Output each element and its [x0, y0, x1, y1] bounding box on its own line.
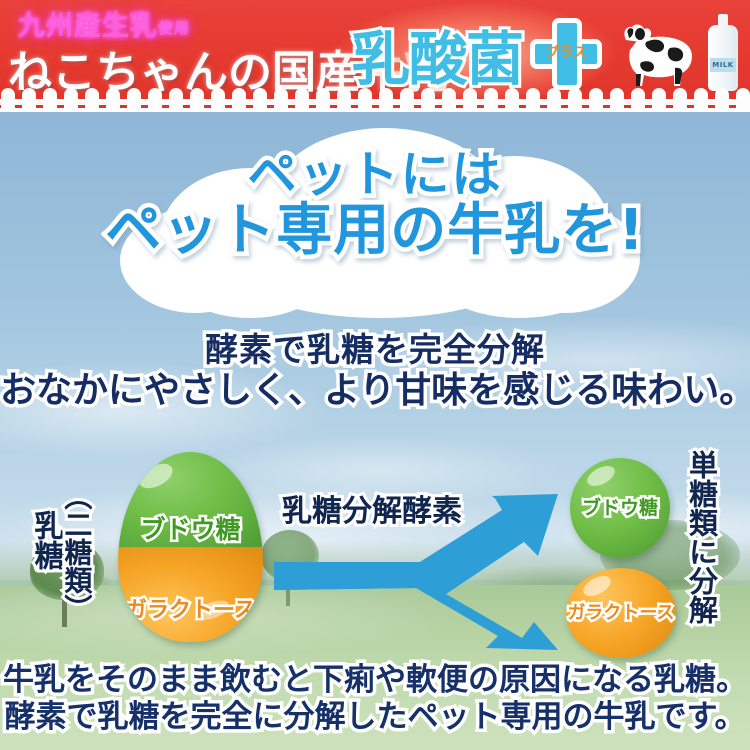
fence-picket [106, 88, 120, 112]
bottomcopy-line-1: 牛乳をそのまま飲むと下痢や軟便の原因になる乳糖。 [0, 662, 750, 699]
fence-picket [43, 88, 57, 112]
fence-picket [295, 88, 309, 112]
product-header-banner: 九州産生乳使用 ねこちゃんの国産牛乳 乳酸菌 プラス [0, 0, 750, 112]
picket-fence-icon [0, 88, 750, 112]
fence-picket [736, 88, 750, 112]
subcopy-line-2: おなかにやさしく、より甘味を感じる味わい。 [0, 371, 750, 411]
fence-picket [652, 88, 666, 112]
fence-picket [610, 88, 624, 112]
fence-picket [316, 88, 330, 112]
sub-copy: 酵素で乳糖を完全分解 おなかにやさしく、より甘味を感じる味わい。 [0, 332, 750, 411]
fence-picket [505, 88, 519, 112]
glucose-label: ブドウ糖 [570, 493, 670, 520]
kyushu-tagline-suffix: 使用 [158, 19, 190, 37]
fence-picket [274, 88, 288, 112]
milk-bottle-icon: MILK [706, 14, 740, 92]
subcopy-line-1: 酵素で乳糖を完全分解 [0, 332, 750, 369]
lactose-label: 乳糖 [30, 510, 62, 570]
badge-label: 乳酸菌 [352, 12, 523, 96]
lactic-acid-bacteria-badge: 乳酸菌 プラス [352, 12, 602, 94]
fence-picket [22, 88, 36, 112]
fence-picket [631, 88, 645, 112]
fence-picket [463, 88, 477, 112]
fence-picket [484, 88, 498, 112]
fence-picket [85, 88, 99, 112]
fence-picket [1, 88, 15, 112]
fence-picket [715, 88, 729, 112]
disaccharide-label: （二糖類） [62, 482, 91, 622]
fence-picket [127, 88, 141, 112]
fence-picket [694, 88, 708, 112]
lactose-breakdown-diagram: 乳糖 （二糖類） ブドウ糖 ガラクトース 乳糖分解酵素 ブドウ糖 ガラクトース … [0, 440, 750, 670]
advertisement-page: 九州産生乳使用 ねこちゃんの国産牛乳 乳酸菌 プラス [0, 0, 750, 750]
lactose-molecule-egg: ブドウ糖 ガラクトース [118, 452, 263, 642]
fence-picket [190, 88, 204, 112]
fence-picket [358, 88, 372, 112]
monosaccharide-split-label: 単糖類に分解 [686, 450, 716, 624]
egg-glucose-label: ブドウ糖 [118, 510, 263, 546]
fence-picket [673, 88, 687, 112]
fence-picket [64, 88, 78, 112]
glucose-molecule: ブドウ糖 [570, 458, 670, 558]
plus-sign-icon: プラス [530, 18, 602, 90]
fence-picket [253, 88, 267, 112]
galactose-molecule: ガラクトース [566, 568, 676, 658]
split-arrow-icon [270, 490, 570, 650]
fence-picket [568, 88, 582, 112]
fence-picket [379, 88, 393, 112]
fence-picket [547, 88, 561, 112]
fence-picket [526, 88, 540, 112]
galactose-label: ガラクトース [566, 599, 676, 625]
fence-picket [232, 88, 246, 112]
bottom-copy: 牛乳をそのまま飲むと下痢や軟便の原因になる乳糖。 酵素で乳糖を完全に分解したペッ… [0, 662, 750, 735]
milk-bottle-label: MILK [710, 58, 736, 72]
fence-picket [211, 88, 225, 112]
egg-galactose-label: ガラクトース [118, 592, 263, 624]
fence-picket [589, 88, 603, 112]
fence-picket [442, 88, 456, 112]
fence-picket [337, 88, 351, 112]
plus-sign-label: プラス [530, 42, 602, 62]
bottomcopy-line-2: 酵素で乳糖を完全に分解したペット専用の牛乳です。 [0, 699, 750, 736]
cow-icon [612, 18, 700, 90]
cloud-shape [120, 128, 630, 318]
fence-picket [148, 88, 162, 112]
fence-picket [169, 88, 183, 112]
fence-picket [400, 88, 414, 112]
fence-picket [421, 88, 435, 112]
